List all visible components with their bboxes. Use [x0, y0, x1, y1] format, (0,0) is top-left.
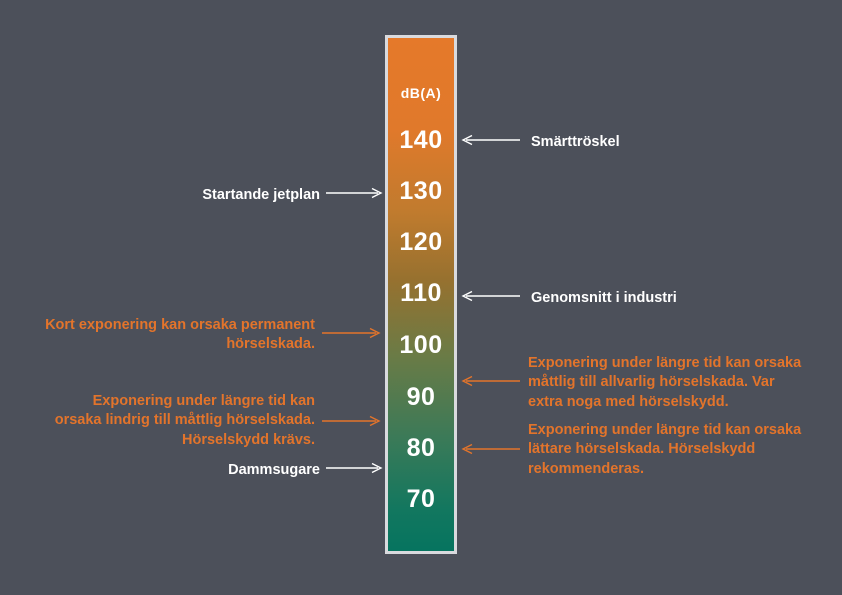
arrow-startande-jetplan [326, 187, 382, 199]
label-startande-jetplan: Startande jetplan [60, 186, 320, 205]
scale-tick-100: 100 [385, 333, 457, 358]
scale-tick-70: 70 [385, 487, 457, 512]
scale-tick-120: 120 [385, 230, 457, 255]
arrow-exponering-lindrig [322, 415, 380, 427]
arrow-mattlig-allvarlig [462, 375, 520, 387]
arrow-lattare [462, 443, 520, 455]
scale-tick-90: 90 [385, 385, 457, 410]
scale-tick-110: 110 [385, 281, 457, 306]
infographic-canvas: dB(A) 140 130 120 110 100 90 80 70 Start… [0, 0, 842, 595]
arrow-genomsnitt [462, 290, 520, 302]
label-genomsnitt-i-industri: Genomsnitt i industri [531, 289, 821, 308]
label-exponering-mattlig-allvarlig: Exponering under längre tid kan orsaka m… [528, 354, 828, 412]
scale-unit-label: dB(A) [385, 86, 457, 100]
scale-tick-140: 140 [385, 128, 457, 153]
arrow-dammsugare [326, 462, 382, 474]
label-exponering-lattare: Exponering under längre tid kan orsaka l… [528, 421, 828, 479]
label-dammsugare: Dammsugare [60, 461, 320, 480]
arrow-smarttroskel [462, 134, 520, 146]
label-kort-exponering-permanent: Kort exponering kan orsaka permanent hör… [30, 316, 315, 355]
label-smarttroskel: Smärttröskel [531, 133, 821, 152]
scale-tick-80: 80 [385, 436, 457, 461]
label-exponering-lindrig-mattlig: Exponering under längre tid kan orsaka l… [30, 392, 315, 450]
scale-tick-130: 130 [385, 179, 457, 204]
arrow-kort-exponering [322, 327, 380, 339]
